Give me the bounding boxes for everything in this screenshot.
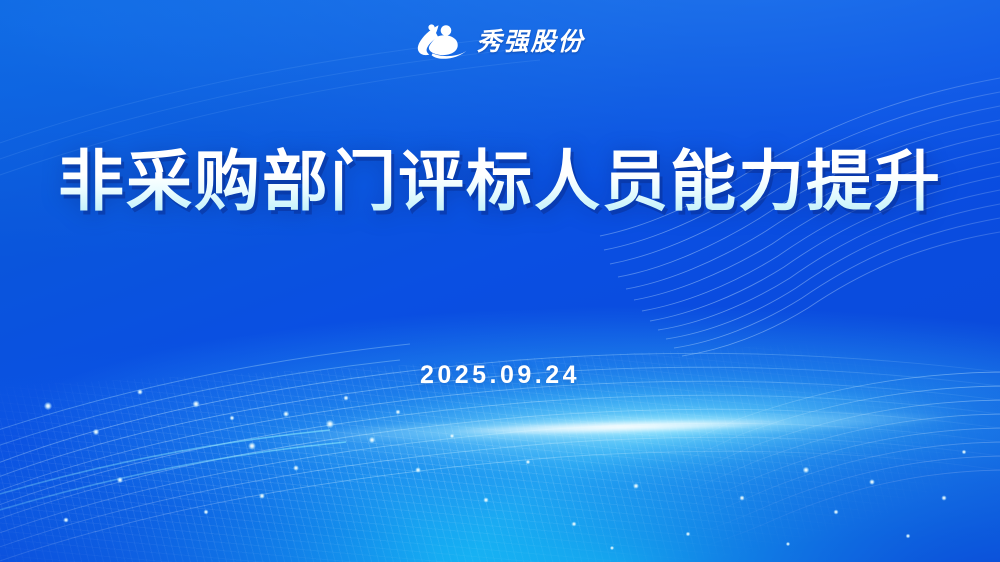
- presentation-title-slide: 秀强股份 非采购部门评标人员能力提升 2025.09.24: [0, 0, 1000, 562]
- xiuqiang-figure-mark-icon: [415, 22, 467, 60]
- company-logo: 秀强股份: [0, 22, 1000, 60]
- slide-date: 2025.09.24: [0, 363, 1000, 388]
- page-title: 非采购部门评标人员能力提升: [0, 146, 1000, 217]
- background-sparkle-dots: [0, 0, 1000, 562]
- logo-wordmark: 秀强股份: [476, 29, 584, 54]
